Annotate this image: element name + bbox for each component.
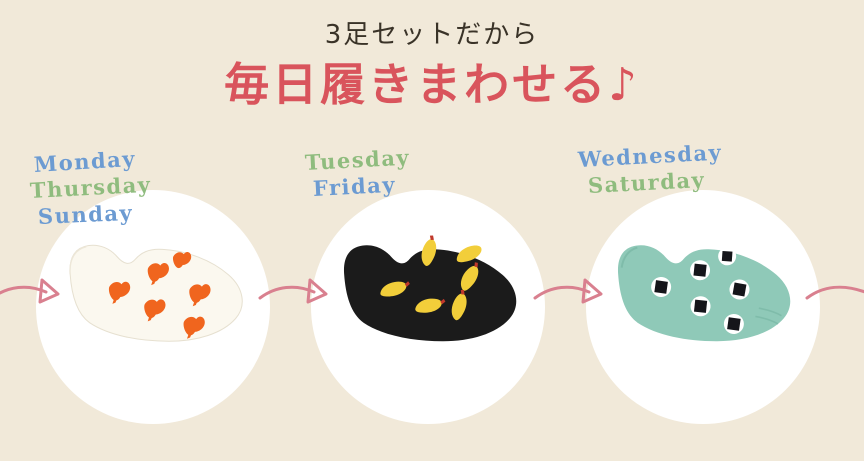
day-label-group-2: Tuesday Friday xyxy=(305,150,410,202)
day-label-saturday: Saturday xyxy=(587,166,723,199)
day-label-friday: Friday xyxy=(312,171,410,202)
day-label-group-3: Wednesday Saturday xyxy=(578,147,722,199)
day-label-sunday: Sunday xyxy=(37,199,152,230)
headline-title: 毎日履きまわせる♪ xyxy=(0,56,864,114)
headline-block: 3足セットだから 毎日履きまわせる♪ xyxy=(0,18,864,114)
promo-banner: 3足セットだから 毎日履きまわせる♪ Monday Thursday Sunda… xyxy=(0,0,864,461)
sock-ivory-birds xyxy=(58,228,254,373)
day-label-group-1: Monday Thursday Sunday xyxy=(30,152,152,230)
sock-mint-squares xyxy=(606,228,802,373)
headline-subtitle: 3足セットだから xyxy=(0,18,864,52)
sock-black-bananas xyxy=(332,228,528,373)
